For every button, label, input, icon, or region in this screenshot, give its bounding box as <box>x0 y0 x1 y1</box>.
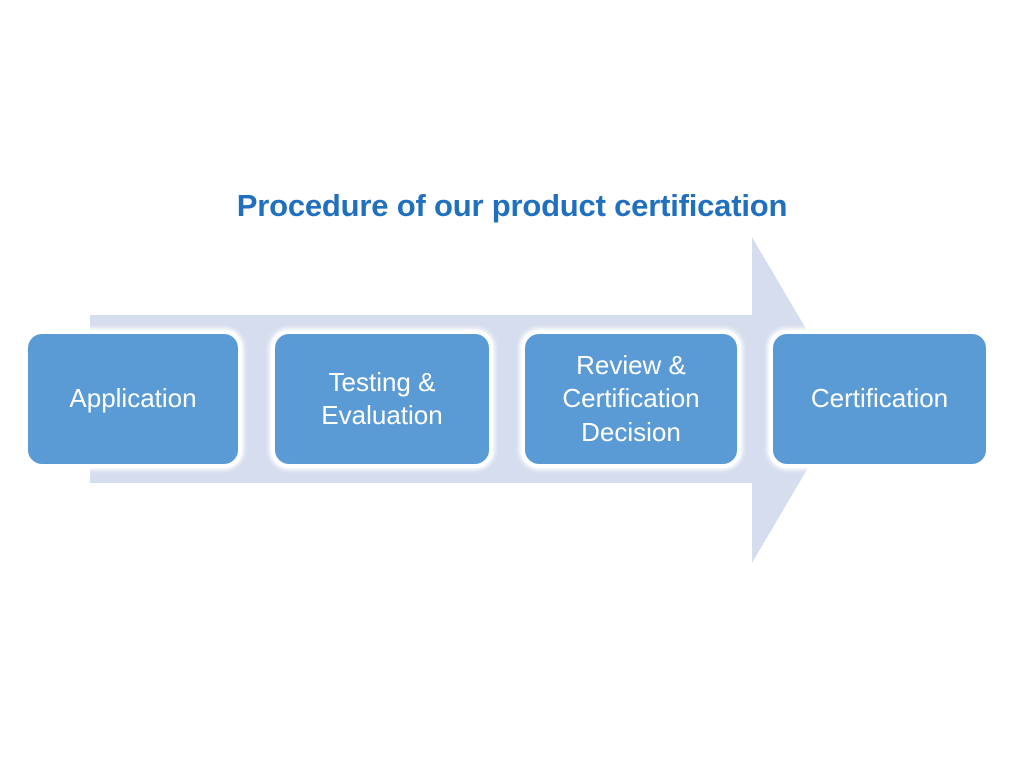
step-box-testing-evaluation[interactable]: Testing & Evaluation <box>271 330 493 468</box>
slide-canvas: Procedure of our product certification A… <box>0 0 1024 768</box>
step-box-certification[interactable]: Certification <box>769 330 990 468</box>
step-label: Testing & Evaluation <box>283 366 481 433</box>
step-box-application[interactable]: Application <box>24 330 242 468</box>
step-box-review-certification-decision[interactable]: Review & Certification Decision <box>521 330 741 468</box>
page-title: Procedure of our product certification <box>0 188 1024 224</box>
step-label: Application <box>36 382 230 415</box>
step-label: Review & Certification Decision <box>533 349 729 449</box>
step-label: Certification <box>781 382 978 415</box>
